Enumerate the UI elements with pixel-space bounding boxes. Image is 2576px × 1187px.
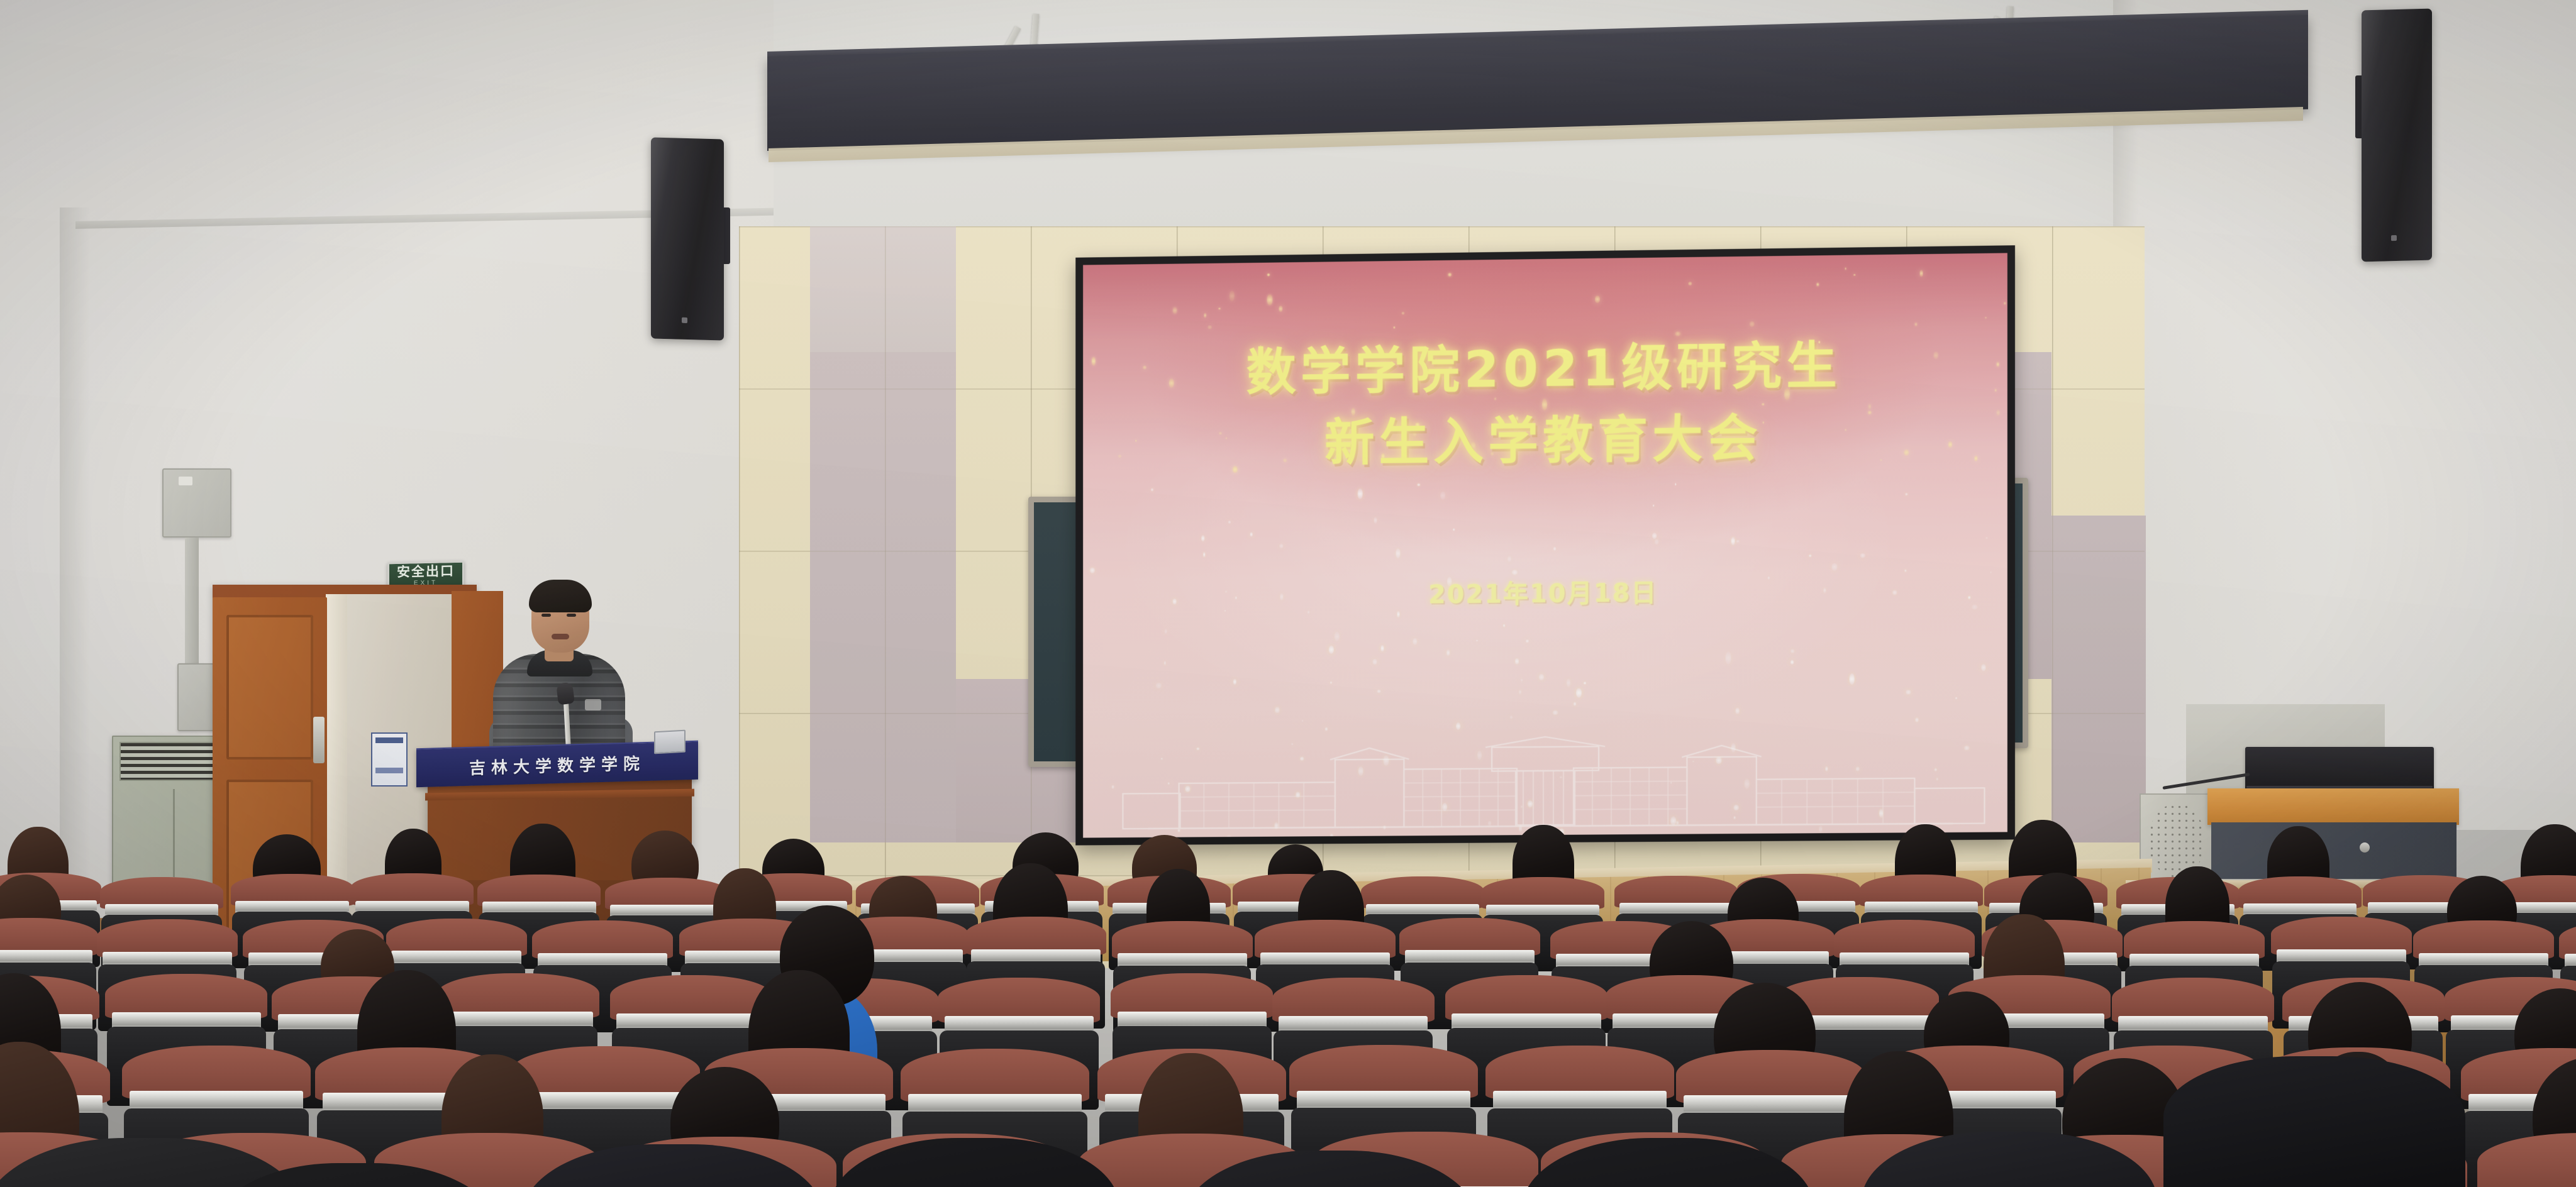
confetti-dot	[1576, 688, 1581, 697]
eye	[567, 614, 576, 617]
confetti-dot	[1329, 646, 1334, 654]
conduit-pipe	[185, 538, 199, 663]
left-wall-corner-shadow	[60, 207, 90, 949]
confetti-dot	[1595, 295, 1601, 303]
confetti-dot	[1832, 563, 1837, 571]
campus-building-icon	[1111, 732, 1991, 833]
confetti-dot	[1396, 548, 1400, 558]
confetti-dot	[1279, 306, 1282, 312]
confetti-dot	[1736, 540, 1740, 543]
jacket-logo	[585, 699, 601, 710]
confetti-dot	[1655, 539, 1658, 544]
confetti-dot	[1302, 720, 1303, 722]
audience-seating	[0, 868, 2576, 1187]
confetti-dot	[1515, 658, 1518, 665]
confetti-dot	[1208, 325, 1212, 329]
confetti-dot	[1373, 659, 1377, 665]
confetti-dot	[1374, 517, 1377, 524]
confetti-dot	[1330, 834, 1333, 838]
confetti-dot	[1553, 710, 1558, 715]
projection-screen-frame: 数学学院2021级研究生 新生入学教育大会 2021年10月18日	[1075, 245, 2015, 845]
confetti-dot	[1233, 679, 1236, 685]
confetti-dot	[1446, 649, 1450, 656]
confetti-dot	[1584, 682, 1585, 684]
door-panel	[226, 615, 313, 759]
mouth	[552, 634, 569, 639]
wall-speaker-left-icon	[651, 137, 724, 340]
confetti-dot	[1456, 722, 1460, 730]
notice-bar	[375, 768, 403, 773]
panel-indicator-icon	[179, 477, 192, 485]
confetti-dot	[1330, 682, 1332, 684]
laptop-on-podium	[654, 730, 686, 754]
confetti-dot	[1503, 624, 1505, 627]
podium-nameplate-text: 吉林大学数学学院	[469, 751, 645, 779]
confetti-dot	[1790, 660, 1794, 665]
seat-headrest	[2477, 1133, 2576, 1187]
audience-member-shoulders	[2163, 1056, 2465, 1187]
confetti-dot	[1860, 553, 1865, 558]
confetti-dot	[1477, 640, 1478, 641]
confetti-dot	[1325, 727, 1328, 731]
door-handle[interactable]	[313, 717, 325, 763]
confetti-dot	[1226, 835, 1231, 837]
wall-speaker-right-icon	[2362, 9, 2432, 262]
confetti-dot	[1453, 529, 1455, 531]
exit-sign-chinese: 安全出口	[397, 565, 455, 579]
slide-title-line-1: 数学学院2021级研究生	[1083, 328, 2007, 410]
confetti-dot	[1267, 294, 1272, 306]
confetti-dot	[1164, 661, 1166, 665]
confetti-dot	[1173, 307, 1177, 314]
confetti-dot	[2003, 302, 2006, 305]
confetti-dot	[1165, 629, 1167, 634]
confetti-dot	[1916, 718, 1919, 722]
console-lock-icon[interactable]	[2360, 842, 2370, 853]
confetti-dot	[1381, 645, 1384, 651]
confetti-dot	[1675, 483, 1676, 486]
confetti-dot	[1250, 532, 1252, 536]
confetti-dot	[1230, 290, 1235, 301]
confetti-dot	[1510, 715, 1512, 719]
confetti-dot	[1906, 690, 1911, 695]
confetti-dot	[1397, 611, 1400, 617]
confetti-dot	[1521, 678, 1523, 682]
confetti-dot	[1357, 489, 1362, 499]
confetti-dot	[1539, 674, 1544, 680]
confetti-dot	[1507, 556, 1511, 561]
confetti-dot	[1335, 631, 1340, 641]
speaker-hair	[529, 580, 592, 612]
auditorium-photo: 数学学院2021级研究生 新生入学教育大会 2021年10月18日	[0, 0, 2576, 1187]
slide-title-line-2: 新生入学教育大会	[1083, 399, 2007, 481]
confetti-dot	[1985, 317, 1986, 318]
confetti-dot	[1267, 273, 1270, 276]
confetti-dot	[1394, 326, 1395, 329]
confetti-dot	[1735, 708, 1739, 714]
confetti-dot	[1519, 690, 1521, 695]
console-wood-top	[2207, 788, 2459, 825]
eye	[541, 614, 551, 617]
confetti-dot	[1919, 270, 1923, 277]
confetti-dot	[1440, 491, 1445, 499]
projection-screen-surface: 数学学院2021级研究生 新生入学教育大会 2021年10月18日	[1083, 253, 2007, 837]
door-notice-sign	[371, 732, 408, 787]
cabinet-vent-grille	[119, 742, 228, 781]
auditorium-seat[interactable]	[2477, 1133, 2576, 1187]
electrical-panel-upper	[162, 468, 231, 538]
notice-bar	[375, 737, 403, 743]
confetti-dot	[1275, 707, 1280, 713]
slide-title: 数学学院2021级研究生 新生入学教育大会	[1083, 328, 2007, 481]
confetti-dot	[1156, 683, 1162, 688]
